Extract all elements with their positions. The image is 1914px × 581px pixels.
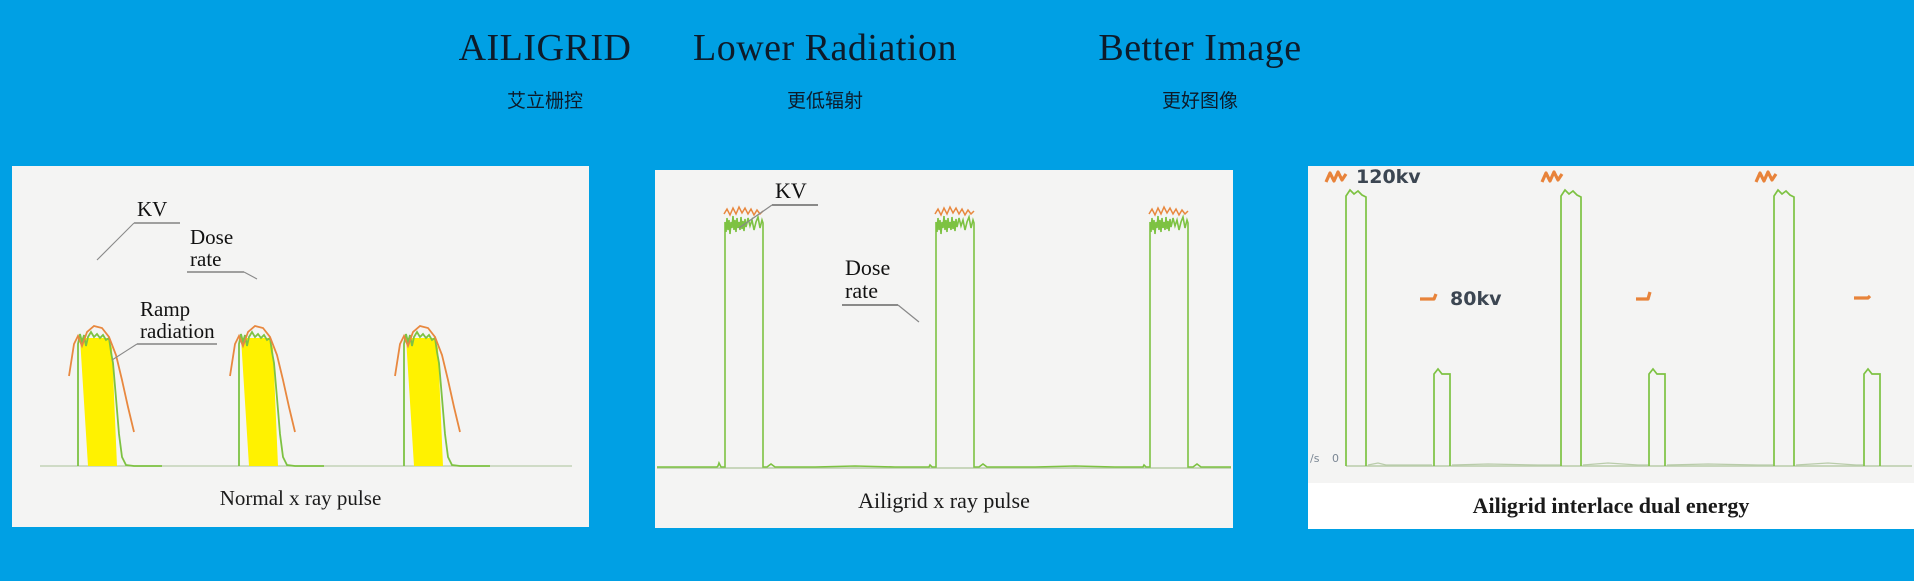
header-title-en-2: Better Image: [1035, 28, 1365, 70]
annotation-dose-rate-label-line2: rate: [190, 247, 221, 271]
annotation-dose-rate-label-line2: rate: [845, 278, 878, 303]
pulse-80kv-1: [1434, 369, 1450, 466]
panel-ailigrid-interlace-dual-energy: /s 0 120kv: [1308, 166, 1914, 529]
annotation-dose-rate-label-line1: Dose: [845, 255, 890, 280]
header-column-ailigrid: AILIGRID 艾立栅控: [430, 28, 660, 113]
high-energy-marker-icon-2: [1542, 172, 1562, 182]
legend-80kv-label: 80kv: [1450, 288, 1502, 310]
annotation-dose-rate-label-line1: Dose: [190, 225, 233, 249]
header-column-lower-radiation: Lower Radiation 更低辐射: [650, 28, 1000, 113]
header-title-cn-2: 更好图像: [1035, 86, 1365, 113]
annotation-kv-label: KV: [775, 178, 807, 203]
pulse-80kv-3: [1864, 369, 1880, 466]
annotation-ramp-radiation: Ramp radiation: [112, 297, 217, 360]
header-title-en-1: Lower Radiation: [650, 28, 1000, 70]
dose-rate-square-2: [895, 216, 1115, 467]
annotation-dose-rate: Dose rate: [842, 255, 919, 322]
axis-zero-label: 0: [1332, 452, 1339, 465]
annotation-kv-leader: [97, 223, 134, 260]
annotation-ramp-label-line1: Ramp: [140, 297, 190, 321]
kv-noise-cap-3: [1149, 207, 1188, 215]
annotation-kv: KV: [97, 197, 180, 260]
dose-rate-square-1: [657, 216, 895, 467]
panel-normal-x-ray-pulse: KV Dose rate Ramp radiation: [12, 166, 589, 527]
panel-ailigrid-x-ray-pulse: KV Dose rate Ailigrid x ray pulse: [655, 170, 1233, 528]
chart-ailigrid-x-ray-pulse: KV Dose rate: [655, 170, 1233, 528]
pulse-group-3: [1115, 207, 1231, 467]
chart-normal-x-ray-pulse: KV Dose rate Ramp radiation: [12, 166, 589, 527]
header: AILIGRID 艾立栅控 Lower Radiation 更低辐射 Bette…: [0, 0, 1914, 150]
pulse-group-3: [395, 326, 490, 466]
annotation-kv-label: KV: [137, 197, 167, 221]
high-energy-marker-icon: [1326, 172, 1346, 182]
header-title-cn-1: 更低辐射: [650, 86, 1000, 113]
header-title-cn-0: 艾立栅控: [430, 86, 660, 113]
chart-ailigrid-interlace-dual-energy: /s 0 120kv: [1308, 166, 1914, 529]
pulse-group-2: [895, 207, 1115, 467]
high-energy-marker-icon-3: [1756, 172, 1776, 182]
legend-120kv: 120kv: [1326, 166, 1421, 188]
pulse-120kv-2: [1561, 190, 1581, 466]
slide-root: AILIGRID 艾立栅控 Lower Radiation 更低辐射 Bette…: [0, 0, 1914, 581]
header-title-en-0: AILIGRID: [430, 28, 660, 70]
panel-caption-normal: Normal x ray pulse: [12, 486, 589, 511]
pulse-group-2: [230, 326, 324, 466]
pulse-group-1: [657, 207, 895, 467]
low-energy-marker-icon: [1420, 294, 1436, 299]
annotation-dose-rate-leader: [898, 305, 919, 322]
dose-rate-square-3: [1115, 216, 1231, 467]
annotation-ramp-label-line2: radiation: [140, 319, 215, 343]
pulse-group-1: [69, 326, 162, 466]
pulse-80kv-2: [1649, 369, 1665, 466]
low-energy-marker-icon-2: [1636, 292, 1650, 299]
annotation-dose-rate-leader: [244, 272, 257, 279]
legend-80kv: 80kv: [1420, 288, 1502, 310]
annotation-dose-rate: Dose rate: [187, 225, 257, 279]
panel-caption-dual-energy: Ailigrid interlace dual energy: [1308, 483, 1914, 529]
legend-120kv-label: 120kv: [1356, 166, 1421, 188]
annotation-kv: KV: [739, 178, 818, 228]
kv-noise-cap-2: [935, 207, 974, 215]
baseline-ripple: [1368, 463, 1863, 465]
pulse-120kv-1: [1346, 190, 1366, 466]
kv-noise-cap-1: [724, 207, 763, 215]
low-energy-marker-icon-3: [1854, 296, 1870, 298]
header-column-better-image: Better Image 更好图像: [1035, 28, 1365, 113]
panel-caption-ailigrid: Ailigrid x ray pulse: [655, 488, 1233, 514]
axis-unit-label: /s: [1310, 452, 1320, 465]
pulse-120kv-3: [1774, 190, 1794, 466]
